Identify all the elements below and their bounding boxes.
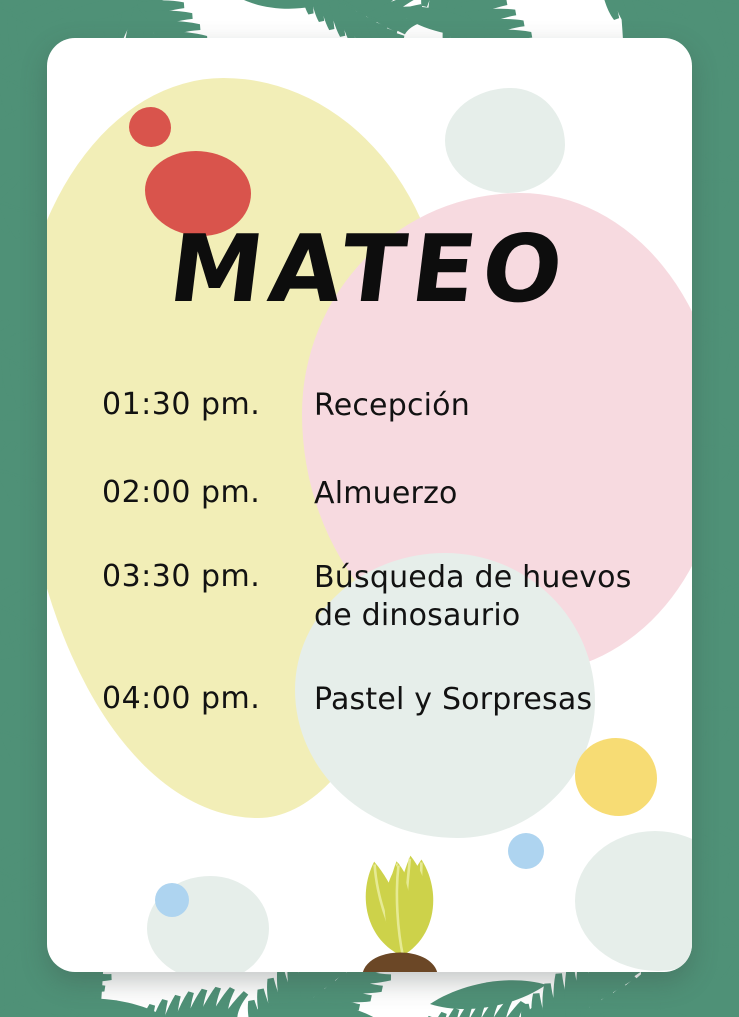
list-item: 03:30 pm. Búsqueda de huevos de dinosaur… bbox=[102, 559, 692, 636]
party-schedule-poster: MATEO 01:30 pm. Recepción 02:00 pm. Almu… bbox=[0, 0, 739, 1017]
blue-circle-bottom-right bbox=[508, 833, 544, 869]
grey-green-blob-bottom-left bbox=[147, 876, 269, 972]
plant-illustration-icon bbox=[290, 788, 510, 972]
poster-card: MATEO 01:30 pm. Recepción 02:00 pm. Almu… bbox=[47, 38, 692, 972]
schedule-activity: Pastel y Sorpresas bbox=[314, 681, 592, 719]
page-title: MATEO bbox=[47, 223, 692, 316]
list-item: 02:00 pm. Almuerzo bbox=[102, 475, 692, 513]
red-dot-blob bbox=[129, 107, 171, 147]
list-item: 01:30 pm. Recepción bbox=[102, 387, 692, 425]
grey-green-blob-bottom-right bbox=[575, 831, 692, 971]
schedule-activity: Búsqueda de huevos de dinosaurio bbox=[314, 559, 632, 636]
schedule-time: 02:00 pm. bbox=[102, 475, 314, 510]
schedule-time: 03:30 pm. bbox=[102, 559, 314, 594]
yellow-blob-small bbox=[575, 738, 657, 816]
schedule-time: 01:30 pm. bbox=[102, 387, 314, 422]
blue-circle-bottom-left bbox=[155, 883, 189, 917]
schedule-activity: Almuerzo bbox=[314, 475, 458, 513]
grey-green-blob-top bbox=[445, 88, 565, 193]
schedule-activity: Recepción bbox=[314, 387, 470, 425]
schedule-time: 04:00 pm. bbox=[102, 681, 314, 716]
list-item: 04:00 pm. Pastel y Sorpresas bbox=[102, 681, 692, 719]
